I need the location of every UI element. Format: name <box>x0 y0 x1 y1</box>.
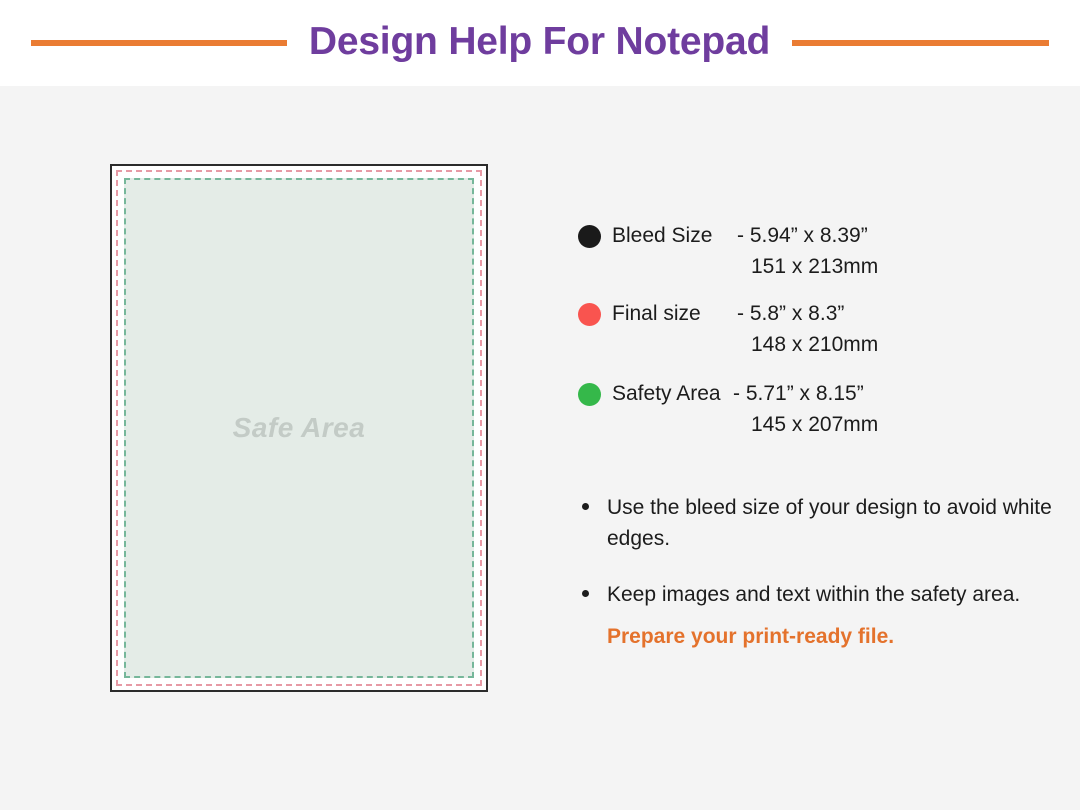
note-text-safety: Keep images and text within the safety a… <box>607 579 1020 610</box>
legend-value-safety-area: - 5.71” x 8.15” <box>733 382 864 406</box>
artboard-trim-box: Safe Area <box>116 170 482 686</box>
legend-row-final-size: Final size - 5.8” x 8.3” 148 x 210mm <box>578 302 1048 370</box>
final-size-dot <box>578 303 601 326</box>
artboard-bleed-box: Safe Area <box>110 164 488 692</box>
legend-value-mm-bleed-size: 151 x 213mm <box>751 255 878 279</box>
artboard-safety-box: Safe Area <box>124 178 474 678</box>
list-item: Keep images and text within the safety a… <box>582 579 1052 610</box>
safety-area-dot <box>578 383 601 406</box>
safe-area-label: Safe Area <box>233 412 366 444</box>
header-rule-right <box>792 40 1049 46</box>
bullet-icon <box>582 503 589 510</box>
legend-label-safety-area: Safety Area <box>612 382 721 406</box>
bleed-size-dot <box>578 225 601 248</box>
legend-label-bleed-size: Bleed Size <box>612 224 712 248</box>
legend-value-bleed-size: - 5.94” x 8.39” <box>737 224 868 248</box>
legend-value-mm-safety-area: 145 x 207mm <box>751 413 878 437</box>
notes-list: Use the bleed size of your design to avo… <box>582 492 1052 649</box>
size-legend: Bleed Size - 5.94” x 8.39” 151 x 213mm F… <box>578 224 1048 454</box>
legend-value-final-size: - 5.8” x 8.3” <box>737 302 844 326</box>
legend-row-safety-area: Safety Area - 5.71” x 8.15” 145 x 207mm <box>578 382 1048 442</box>
legend-value-mm-final-size: 148 x 210mm <box>751 333 878 357</box>
page-title: Design Help For Notepad <box>309 22 770 65</box>
list-item: Use the bleed size of your design to avo… <box>582 492 1052 554</box>
note-text-bleed: Use the bleed size of your design to avo… <box>607 492 1052 554</box>
legend-label-final-size: Final size <box>612 302 701 326</box>
legend-row-bleed-size: Bleed Size - 5.94” x 8.39” 151 x 213mm <box>578 224 1048 290</box>
header-rule-left <box>31 40 287 46</box>
print-ready-callout: Prepare your print-ready file. <box>607 625 1052 649</box>
bullet-icon <box>582 590 589 597</box>
page-header: Design Help For Notepad <box>0 0 1080 86</box>
